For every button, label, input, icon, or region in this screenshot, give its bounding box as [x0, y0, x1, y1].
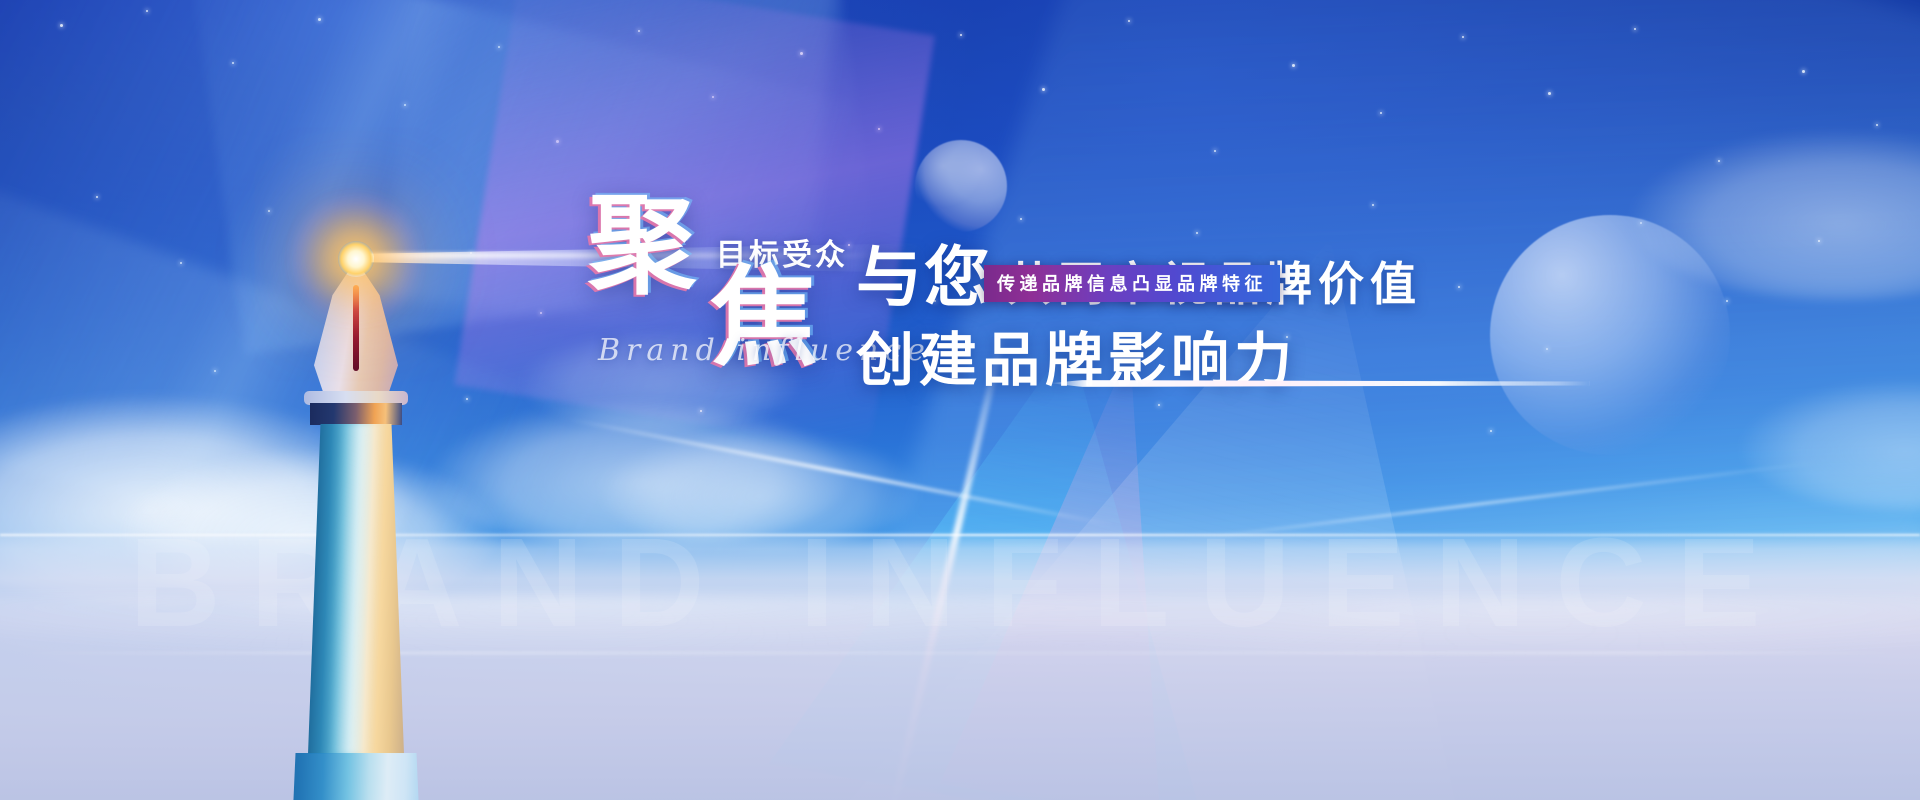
title-char-ju: 聚	[588, 196, 698, 295]
background-watermark: BRAND INFLUENCE	[0, 520, 1920, 646]
light-shard-left-lower	[0, 120, 571, 795]
lighthouse-gallery-rail	[304, 391, 408, 405]
cloud-mid	[430, 400, 850, 550]
pen-nib-icon	[314, 260, 398, 395]
lighthouse-gallery-band	[310, 403, 402, 425]
sea-ripple	[0, 652, 1920, 654]
light-beam-streak	[883, 329, 1007, 800]
cloud-right-upper	[1630, 130, 1920, 300]
light-beam-streak-left	[565, 417, 1115, 528]
cloud-right-lower	[1740, 380, 1920, 510]
cloud-left	[0, 395, 410, 605]
lighthouse-tower-glow	[308, 424, 404, 754]
copy-line-a-emphasis: 与您	[856, 224, 992, 320]
planet-large-icon	[1490, 215, 1730, 455]
cloud-mid-small	[600, 430, 920, 550]
headline-group: 聚 目标受众 焦 Brand influence 与您 共同审视品牌价值 传递品…	[0, 0, 1920, 800]
lighthouse-tower-upper	[308, 424, 404, 754]
light-shard-right	[837, 0, 1920, 800]
headline-divider-rule	[1050, 380, 1590, 387]
horizon-sea	[0, 530, 1920, 800]
horizon-line	[0, 534, 1920, 536]
brand-banner: BRAND INFLUENCE 聚 目标受众 焦 Brand influence…	[0, 0, 1920, 800]
sea-wave-highlight	[0, 596, 1920, 726]
light-beam-streak-right	[1182, 461, 1818, 542]
moon-small-icon	[915, 140, 1007, 232]
lamp-halo-icon	[290, 193, 422, 325]
tagline-badge: 传递品牌信息凸显品牌特征	[984, 265, 1280, 302]
lamp-light-icon	[338, 241, 374, 277]
starfield	[0, 0, 1920, 800]
pen-nib-slit	[353, 285, 359, 371]
cloud-left-small	[120, 450, 500, 610]
lighthouse-tower-lower	[284, 753, 428, 800]
lighthouse-pen-illustration	[256, 215, 456, 800]
